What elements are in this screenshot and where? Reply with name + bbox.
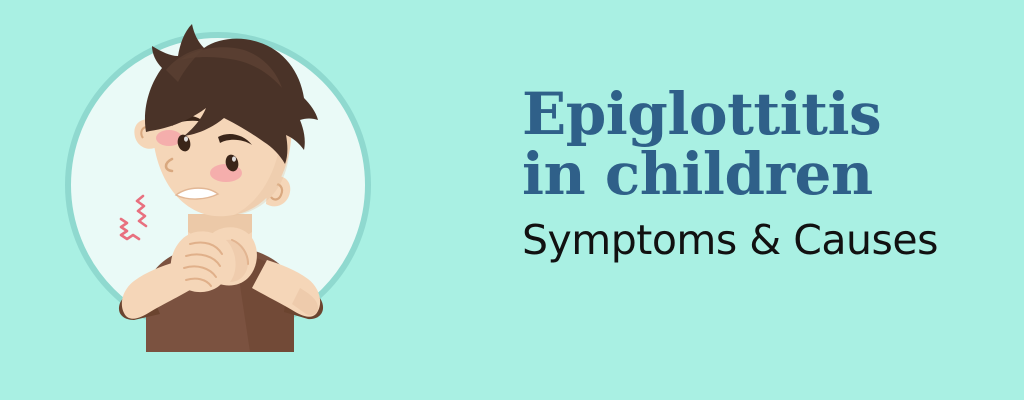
headline-line-2: in children: [522, 146, 992, 202]
subheadline: Symptoms & Causes: [522, 219, 992, 262]
illustration-boy-sore-throat: [0, 0, 460, 400]
text-block: Epiglottitis in children Symptoms & Caus…: [522, 86, 992, 262]
illustration-svg: [0, 0, 460, 400]
banner-root: Epiglottitis in children Symptoms & Caus…: [0, 0, 1024, 400]
headline-line-1: Epiglottitis: [522, 86, 992, 142]
